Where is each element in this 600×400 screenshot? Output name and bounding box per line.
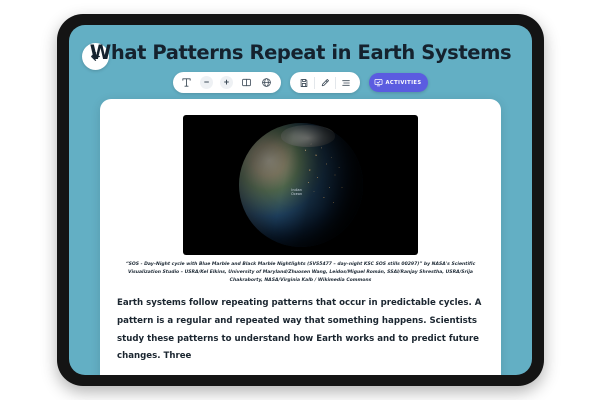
- list-outline-button[interactable]: [336, 73, 356, 92]
- body-paragraph: Earth systems follow repeating patterns …: [114, 295, 487, 365]
- save-bookmark-icon: [299, 78, 309, 88]
- book-reader-icon: [241, 77, 252, 88]
- highlighter-pen-icon: [320, 78, 330, 88]
- toolbar-right-group: [290, 72, 360, 93]
- save-bookmark-button[interactable]: [294, 73, 314, 92]
- globe-translate-icon: [261, 77, 272, 88]
- increase-text-size-button[interactable]: +: [217, 73, 237, 92]
- tablet-device-frame: What Patterns Repeat in Earth Systems: [57, 14, 544, 386]
- text-format-icon: [181, 77, 192, 88]
- globe-sphere: [239, 123, 363, 247]
- book-reader-button[interactable]: [237, 73, 257, 92]
- text-format-button[interactable]: [177, 73, 197, 92]
- reading-content-card[interactable]: Indian Ocean “SOS - Day–Night cycle with…: [100, 99, 501, 375]
- ocean-label-line-2: Ocean: [291, 192, 302, 197]
- activities-button[interactable]: ACTIVITIES: [369, 73, 429, 92]
- list-outline-icon: [341, 78, 351, 88]
- reader-toolbar: − +: [69, 72, 532, 93]
- screenshot-root: What Patterns Repeat in Earth Systems: [0, 0, 600, 400]
- figure-container: Indian Ocean: [114, 115, 487, 255]
- earth-day-night-globe-image: Indian Ocean: [183, 115, 418, 255]
- toolbar-left-group: − +: [173, 72, 281, 93]
- globe-terminator-shading: [239, 123, 363, 247]
- activities-monitor-icon: [374, 74, 383, 92]
- page-title: What Patterns Repeat in Earth Systems: [69, 41, 532, 64]
- indian-ocean-label: Indian Ocean: [291, 188, 302, 197]
- app-header: What Patterns Repeat in Earth Systems: [69, 25, 532, 77]
- highlighter-pen-button[interactable]: [315, 73, 335, 92]
- activities-label: ACTIVITIES: [386, 80, 422, 86]
- decrease-text-size-button[interactable]: −: [197, 73, 217, 92]
- globe-translate-button[interactable]: [257, 73, 277, 92]
- tablet-screen: What Patterns Repeat in Earth Systems: [69, 25, 532, 375]
- figure-caption: “SOS - Day–Night cycle with Blue Marble …: [114, 261, 487, 284]
- increase-text-size-icon: +: [220, 76, 233, 89]
- decrease-text-size-icon: −: [200, 76, 213, 89]
